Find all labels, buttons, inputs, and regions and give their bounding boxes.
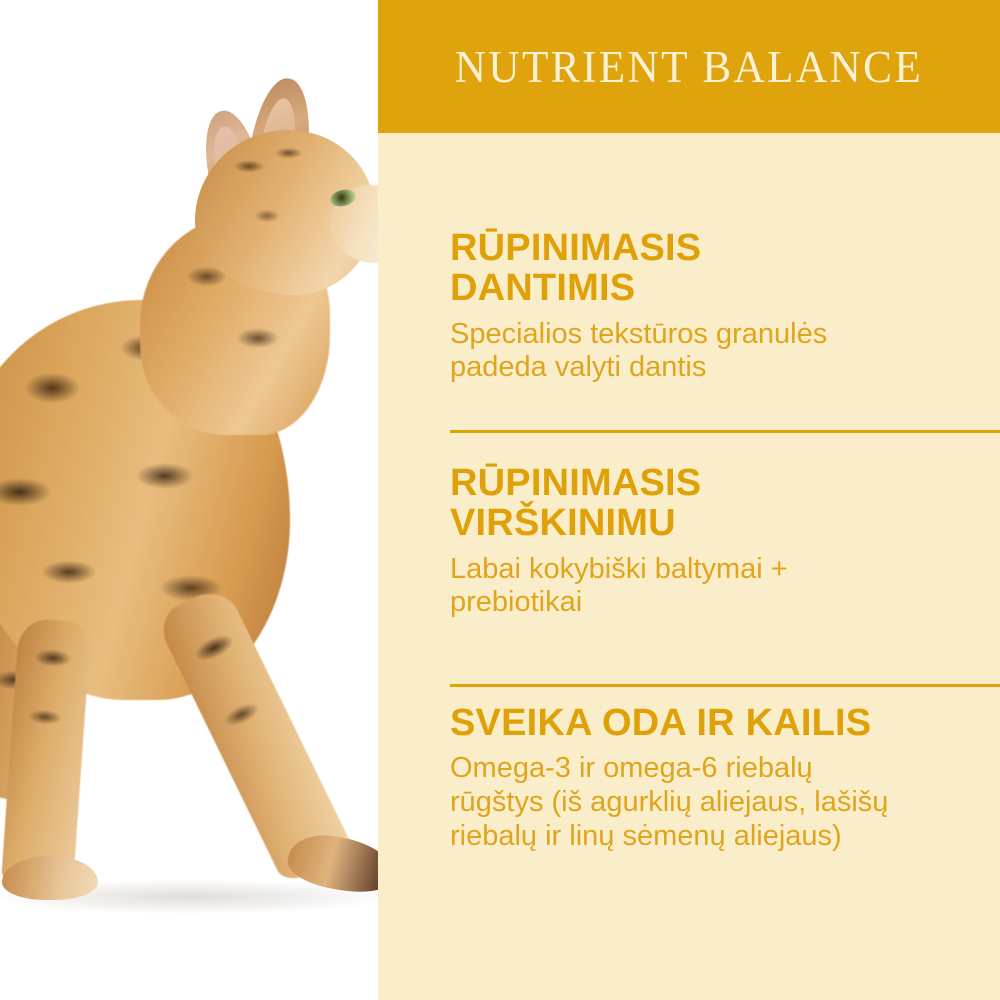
benefit-section-dental: RŪPINIMASIS DANTIMIS Specialios tekstūro… [450,228,1000,385]
benefit-title-digestion: RŪPINIMASIS VIRŠKINIMU [450,463,1000,544]
benefit-title-dental: RŪPINIMASIS DANTIMIS [450,228,1000,309]
benefit-title-skin-coat: SVEIKA ODA IR KAILIS [450,703,1000,743]
cat-back-paw [2,856,98,900]
benefit-desc-skin-coat: Omega-3 ir omega-6 riebalų rūgštys (iš a… [450,752,1000,853]
content-panel: NUTRIENT BALANCE RŪPINIMASIS DANTIMIS Sp… [378,0,1000,1000]
benefit-section-digestion: RŪPINIMASIS VIRŠKINIMU Labai kokybiški b… [450,463,1000,620]
section-divider-1 [450,430,1000,433]
benefit-desc-dental: Specialios tekstūros granulės padeda val… [450,318,1000,385]
cat-photo-area [0,0,380,1000]
section-divider-2 [450,684,1000,687]
header-bar: NUTRIENT BALANCE [378,0,1000,133]
page-title: NUTRIENT BALANCE [455,41,923,93]
infographic-canvas: NUTRIENT BALANCE RŪPINIMASIS DANTIMIS Sp… [0,0,1000,1000]
bengal-cat-illustration [0,0,380,1000]
benefit-sections: RŪPINIMASIS DANTIMIS Specialios tekstūro… [378,133,1000,1000]
benefit-desc-digestion: Labai kokybiški baltymai + prebiotikai [450,553,1000,620]
benefit-section-skin-coat: SVEIKA ODA IR KAILIS Omega-3 ir omega-6 … [450,703,1000,853]
